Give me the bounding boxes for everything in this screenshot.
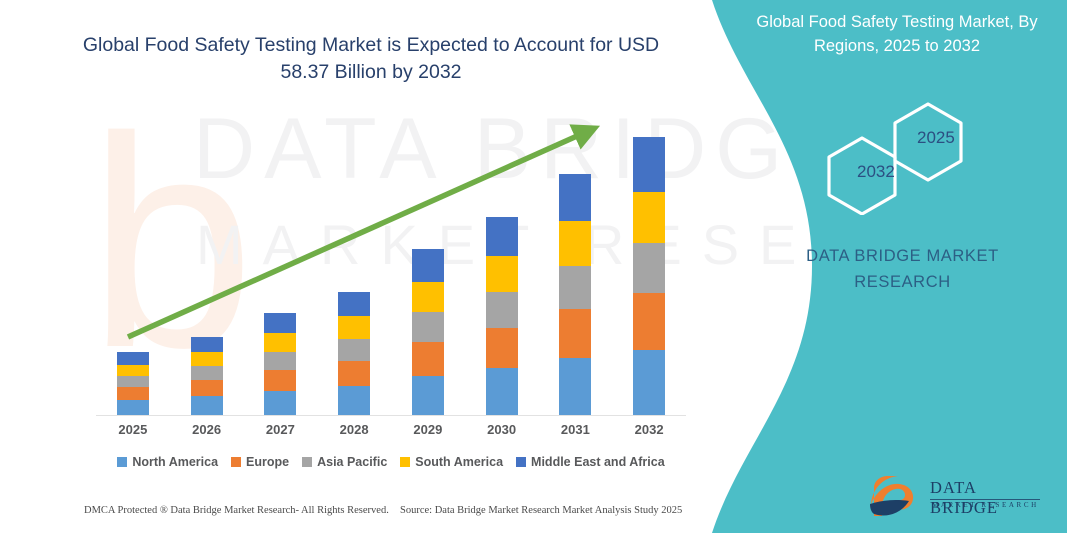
logo-name-top: DATA BRIDGE (930, 478, 1043, 518)
logo-mark-icon (868, 474, 926, 518)
panel-brand-line1: DATA BRIDGE MARKET (760, 243, 1045, 269)
panel-title: Global Food Safety Testing Market, By Re… (737, 10, 1057, 58)
logo-name-bottom: MARKET RESEARCH (932, 501, 1039, 509)
hexagon-2025-label: 2025 (917, 128, 955, 148)
hexagon-shapes (820, 100, 1010, 215)
hexagon-2032-label: 2032 (857, 162, 895, 182)
logo-divider (930, 499, 1040, 500)
data-bridge-logo: DATA BRIDGE MARKET RESEARCH (868, 474, 1043, 518)
panel-brand-line2: RESEARCH (760, 269, 1045, 295)
infographic-canvas: b DATA BRIDGE MARKET RESEARCH Global Foo… (0, 0, 1067, 533)
hexagon-group: 2025 2032 (820, 100, 1010, 215)
panel-brand-text: DATA BRIDGE MARKET RESEARCH (760, 243, 1045, 295)
